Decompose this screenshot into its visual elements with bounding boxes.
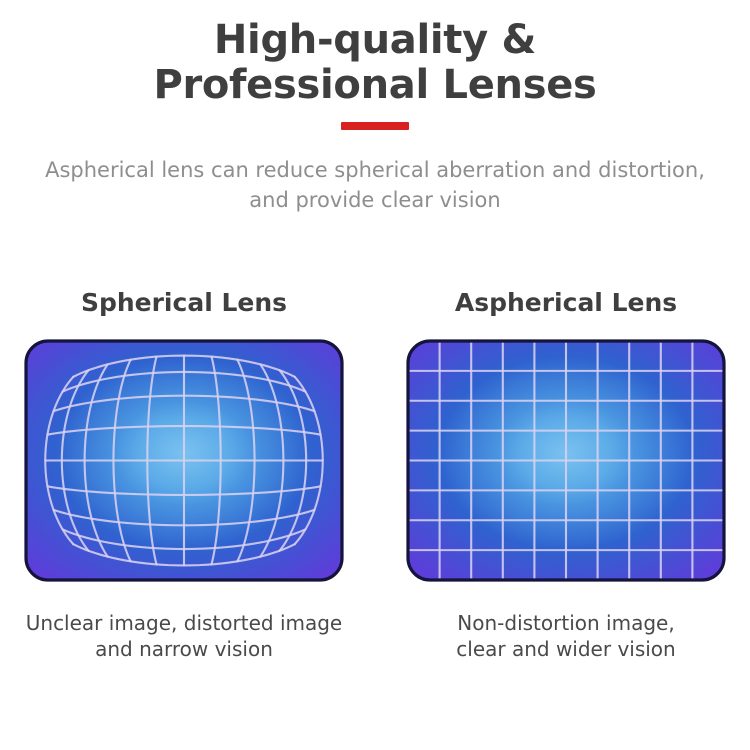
panel-aspherical-lens: Aspherical Lens Non-distortion image, cl… (396, 288, 736, 662)
aspherical-lens-straight-grid-figure (406, 339, 726, 582)
page-subtitle: Aspherical lens can reduce spherical abe… (0, 155, 750, 216)
title-accent-bar (341, 122, 409, 130)
caption-spherical-line-2: and narrow vision (26, 636, 342, 662)
page-header: High-quality & Professional Lenses (0, 18, 750, 130)
caption-aspherical-line-1: Non-distortion image, (456, 610, 675, 636)
page-title-line-1: High-quality & (0, 18, 750, 63)
caption-spherical-line-1: Unclear image, distorted image (26, 610, 342, 636)
subtitle-line-1: Aspherical lens can reduce spherical abe… (0, 155, 750, 185)
panel-heading-aspherical: Aspherical Lens (455, 288, 677, 317)
lens-comparison: Spherical Lens Unclear image, distorted … (0, 288, 750, 662)
caption-aspherical-line-2: clear and wider vision (456, 636, 675, 662)
panel-heading-spherical: Spherical Lens (81, 288, 287, 317)
subtitle-line-2: and provide clear vision (0, 185, 750, 215)
page-title-line-2: Professional Lenses (0, 63, 750, 108)
infographic-page: High-quality & Professional Lenses Asphe… (0, 0, 750, 750)
panel-caption-spherical: Unclear image, distorted image and narro… (26, 610, 342, 662)
panel-caption-aspherical: Non-distortion image, clear and wider vi… (456, 610, 675, 662)
spherical-lens-distorted-grid-figure (24, 339, 344, 582)
panel-spherical-lens: Spherical Lens Unclear image, distorted … (14, 288, 354, 662)
